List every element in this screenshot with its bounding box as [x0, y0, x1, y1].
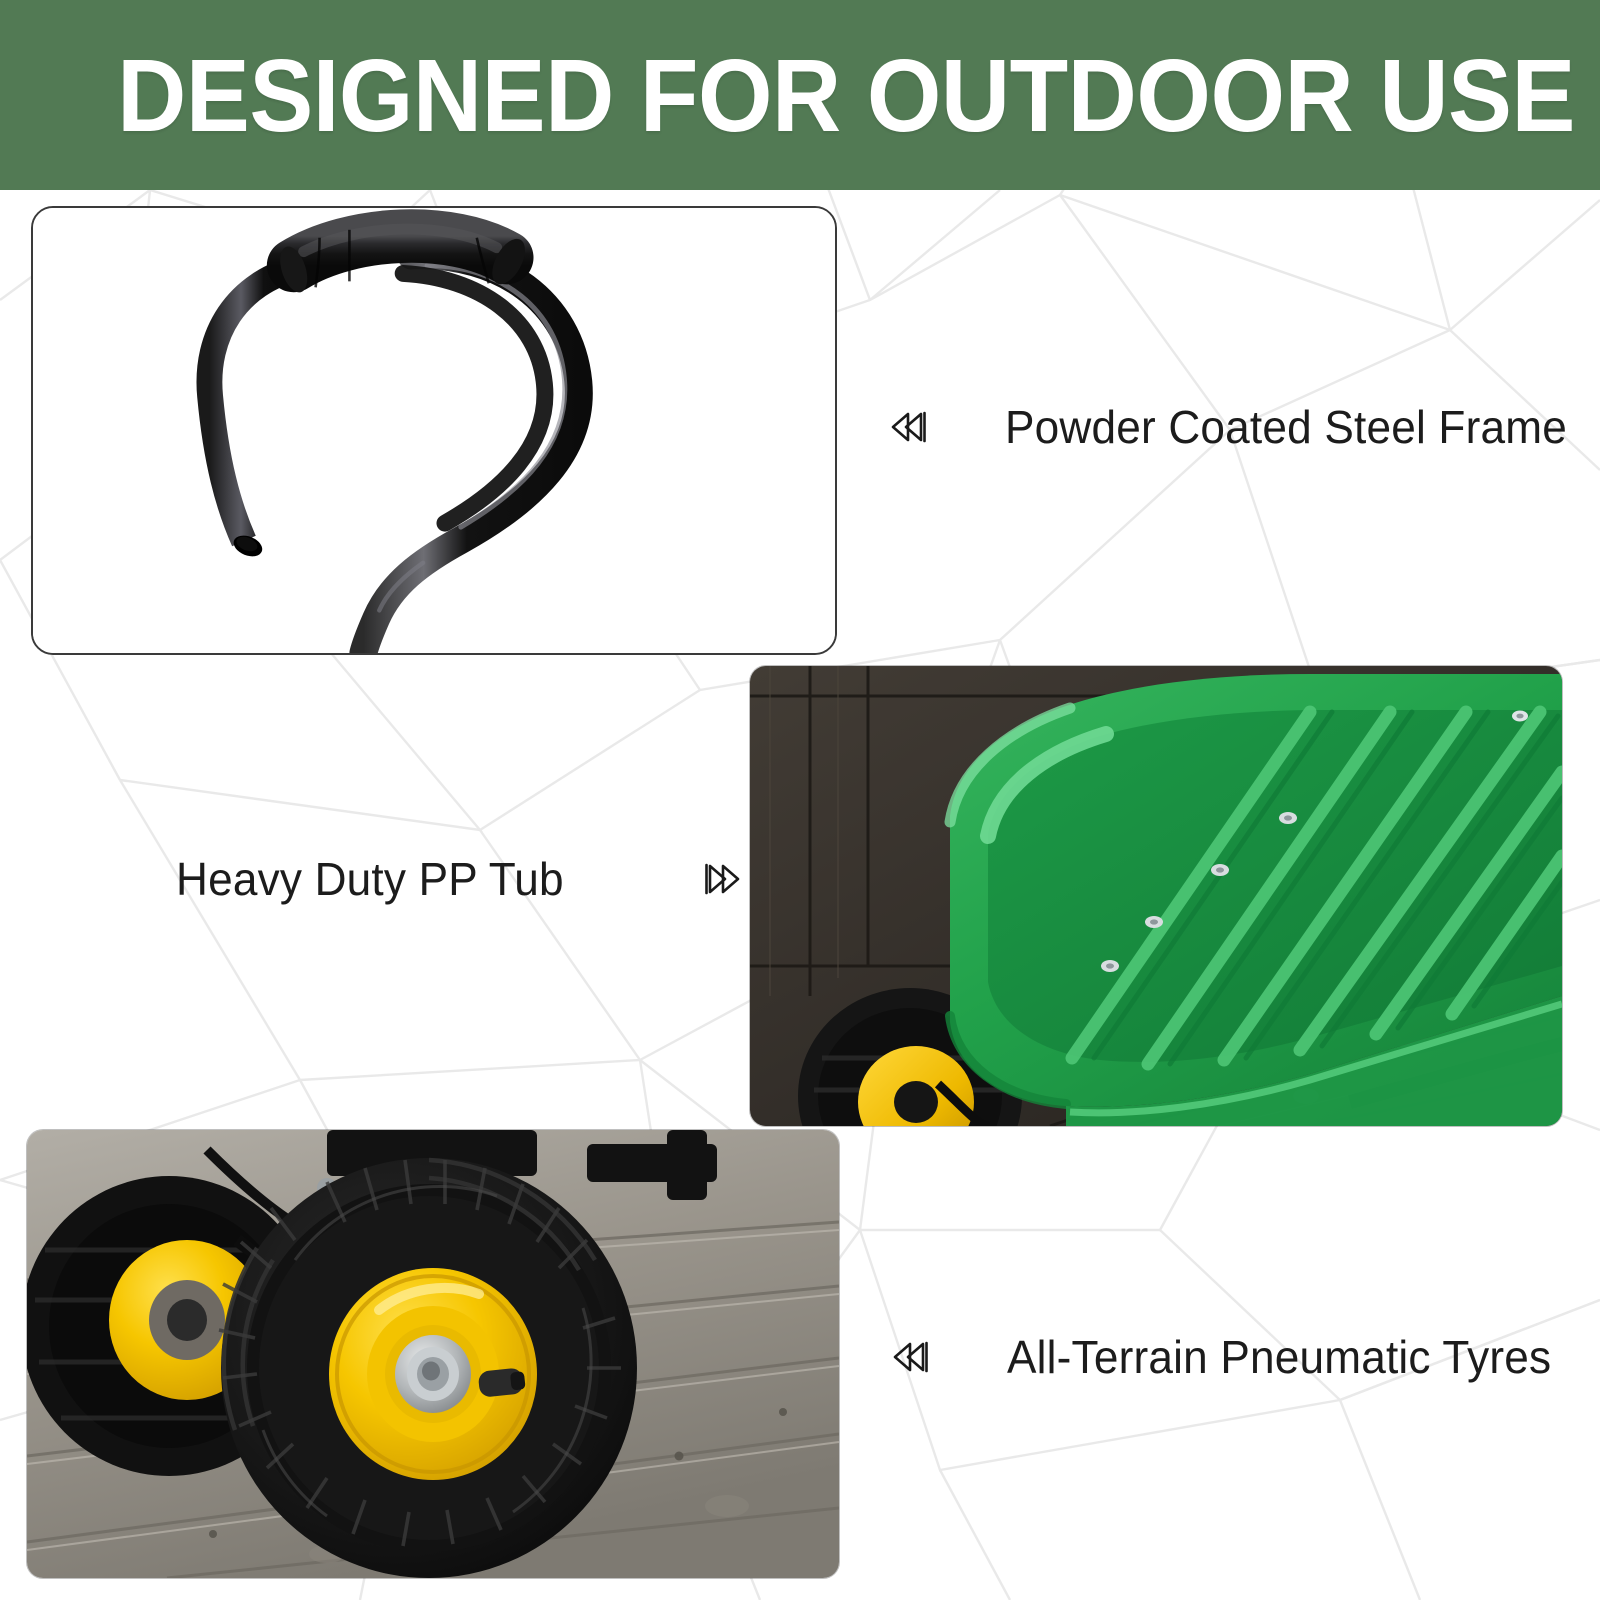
page-title: DESIGNED FOR OUTDOOR USE [0, 44, 1575, 147]
callout-label: Heavy Duty PP Tub [176, 852, 564, 906]
green-tub-illustration [750, 666, 1562, 1126]
callout-label: Powder Coated Steel Frame [1005, 400, 1567, 454]
callout-label: All-Terrain Pneumatic Tyres [1007, 1330, 1551, 1384]
double-chevron-left-icon [889, 1334, 935, 1380]
steel-handle-illustration [33, 208, 835, 653]
callout-heavy-duty-pp-tub: Heavy Duty PP Tub [176, 852, 744, 906]
double-chevron-left-icon [887, 404, 933, 450]
callout-all-terrain-pneumatic-tyres: All-Terrain Pneumatic Tyres [889, 1330, 1574, 1384]
header-banner: DESIGNED FOR OUTDOOR USE [0, 0, 1600, 190]
double-chevron-right-icon [698, 856, 744, 902]
pneumatic-tyre-photo-panel [27, 1130, 839, 1578]
pneumatic-tyre-illustration [27, 1130, 839, 1578]
green-pp-tub-photo-panel [750, 666, 1562, 1126]
steel-handle-photo-panel [31, 206, 837, 655]
callout-powder-coated-steel-frame: Powder Coated Steel Frame [887, 400, 1590, 454]
